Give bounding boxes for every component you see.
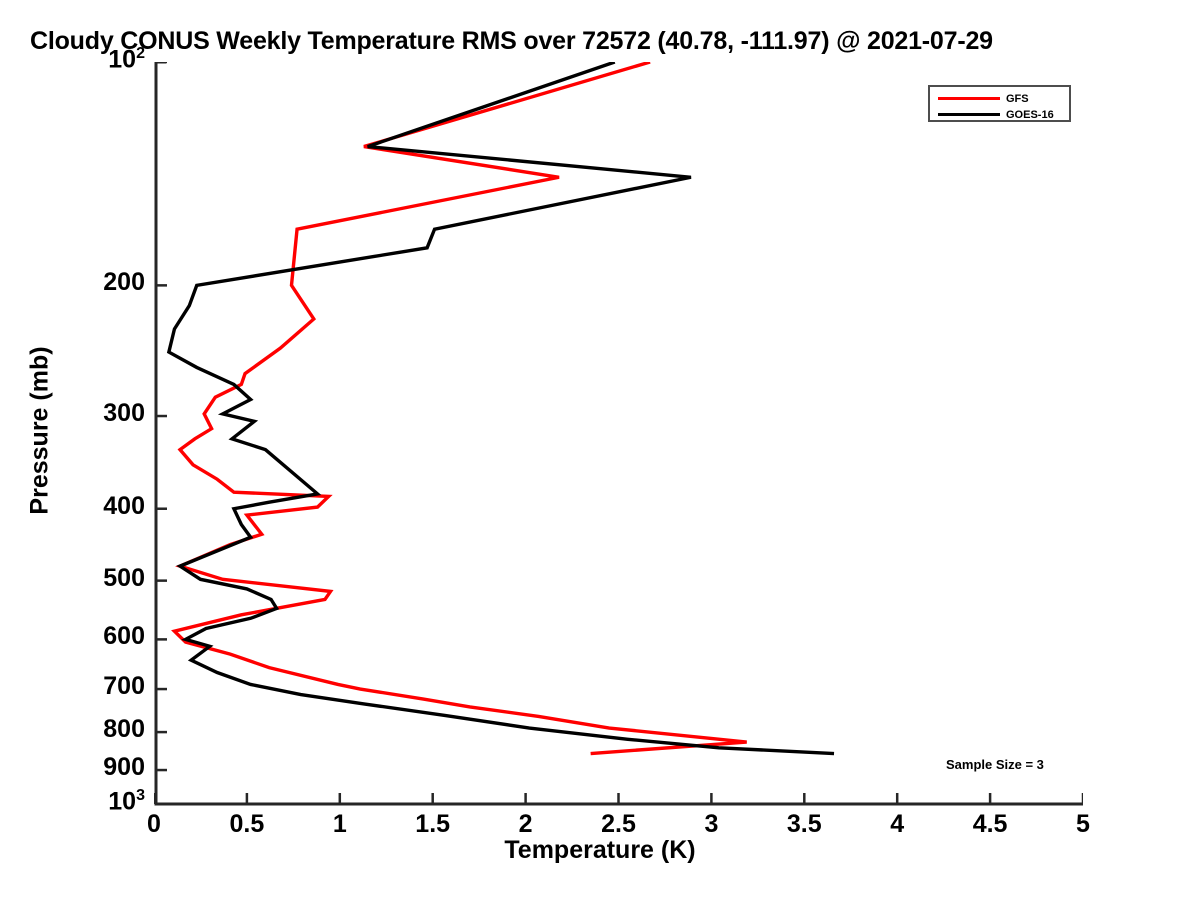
y-tick-label: 800 xyxy=(103,715,145,744)
legend-item-goes-16[interactable]: GOES-16 xyxy=(930,106,1069,123)
x-axis-title: Temperature (K) xyxy=(0,836,1200,865)
y-tick-label: 700 xyxy=(103,672,145,701)
y-tick-label: 500 xyxy=(103,564,145,593)
chart-figure: Cloudy CONUS Weekly Temperature RMS over… xyxy=(0,0,1200,900)
y-tick-label: 400 xyxy=(103,492,145,521)
plot-svg xyxy=(154,62,1083,806)
legend-item-label: GFS xyxy=(1006,93,1029,105)
legend-item-gfs[interactable]: GFS xyxy=(930,90,1069,107)
y-tick-label: 900 xyxy=(103,753,145,782)
y-tick-label: 600 xyxy=(103,622,145,651)
series-line-goes-16 xyxy=(169,62,834,754)
x-tick-label: 5 xyxy=(1023,810,1143,839)
y-tick-label: 200 xyxy=(103,268,145,297)
series-layer xyxy=(169,62,834,754)
sample-size-annotation: Sample Size = 3 xyxy=(946,757,1044,772)
page-title: Cloudy CONUS Weekly Temperature RMS over… xyxy=(30,27,1200,56)
plot-area xyxy=(154,62,1083,806)
legend-color-swatch xyxy=(938,97,1000,100)
legend-item-label: GOES-16 xyxy=(1006,109,1054,121)
y-axis-title: Pressure (mb) xyxy=(26,331,55,531)
legend-color-swatch xyxy=(938,113,1000,116)
chart-legend: GFSGOES-16 xyxy=(928,85,1071,122)
y-tick-label: 102 xyxy=(108,45,145,74)
y-tick-label: 300 xyxy=(103,399,145,428)
series-line-gfs xyxy=(174,62,746,754)
